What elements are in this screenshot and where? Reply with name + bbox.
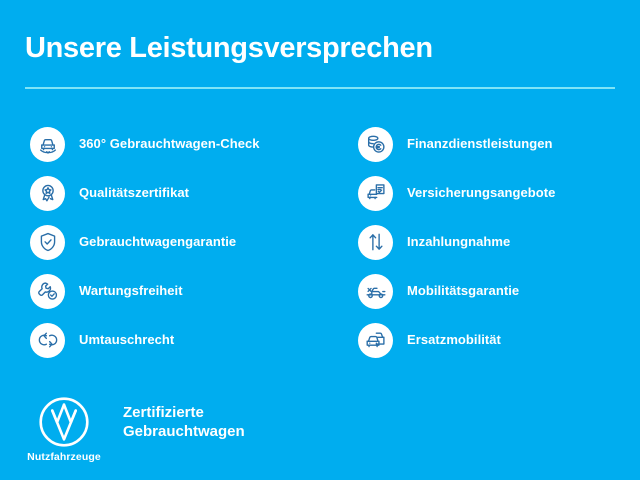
list-item: Gebrauchtwagengarantie [30, 224, 330, 260]
list-item: Finanzdienstleistungen [358, 126, 633, 162]
award-medal-icon [30, 176, 65, 211]
brand-footer: Nutzfahrzeuge Zertifizierte Gebrauchtwag… [25, 396, 245, 463]
slide-root: Unsere Leistungsversprechen 360° Gebrauc… [0, 0, 640, 480]
volkswagen-roundel-logo [38, 396, 90, 448]
list-item: Wartungsfreiheit [30, 273, 330, 309]
car-document-check-icon [358, 176, 393, 211]
brand-claim: Zertifizierte Gebrauchtwagen [123, 403, 245, 441]
car-inspection-icon [30, 127, 65, 162]
list-item: Ersatzmobilität [358, 322, 633, 358]
list-item: Inzahlungnahme [358, 224, 633, 260]
promise-list-right: Finanzdienstleistungen Versicherungsange… [358, 126, 633, 371]
up-down-arrows-icon [358, 225, 393, 260]
title-divider [25, 87, 615, 89]
brand-claim-line-2: Gebrauchtwagen [123, 422, 245, 441]
shield-check-icon [30, 225, 65, 260]
page-title: Unsere Leistungsversprechen [25, 31, 433, 65]
coins-euro-icon [358, 127, 393, 162]
brand-sub-label: Nutzfahrzeuge [25, 451, 103, 463]
list-item-label: Mobilitätsgarantie [407, 283, 519, 299]
wrench-check-icon [30, 274, 65, 309]
exchange-arrows-icon [30, 323, 65, 358]
list-item-label: Ersatzmobilität [407, 332, 501, 348]
list-item: Mobilitätsgarantie [358, 273, 633, 309]
promise-list-left: 360° Gebrauchtwagen-Check Qualitätszerti… [30, 126, 330, 371]
list-item: Umtauschrecht [30, 322, 330, 358]
brand-claim-line-1: Zertifizierte [123, 403, 245, 422]
brand-mark: Nutzfahrzeuge [25, 396, 103, 463]
list-item: Versicherungsangebote [358, 175, 633, 211]
tow-truck-icon [358, 274, 393, 309]
list-item-label: 360° Gebrauchtwagen-Check [79, 136, 260, 152]
list-item-label: Versicherungsangebote [407, 185, 555, 201]
list-item-label: Gebrauchtwagengarantie [79, 234, 236, 250]
list-item-label: Umtauschrecht [79, 332, 174, 348]
two-cars-icon [358, 323, 393, 358]
list-item-label: Qualitätszertifikat [79, 185, 189, 201]
list-item-label: Finanzdienstleistungen [407, 136, 553, 152]
list-item: 360° Gebrauchtwagen-Check [30, 126, 330, 162]
list-item-label: Inzahlungnahme [407, 234, 510, 250]
list-item-label: Wartungsfreiheit [79, 283, 183, 299]
list-item: Qualitätszertifikat [30, 175, 330, 211]
